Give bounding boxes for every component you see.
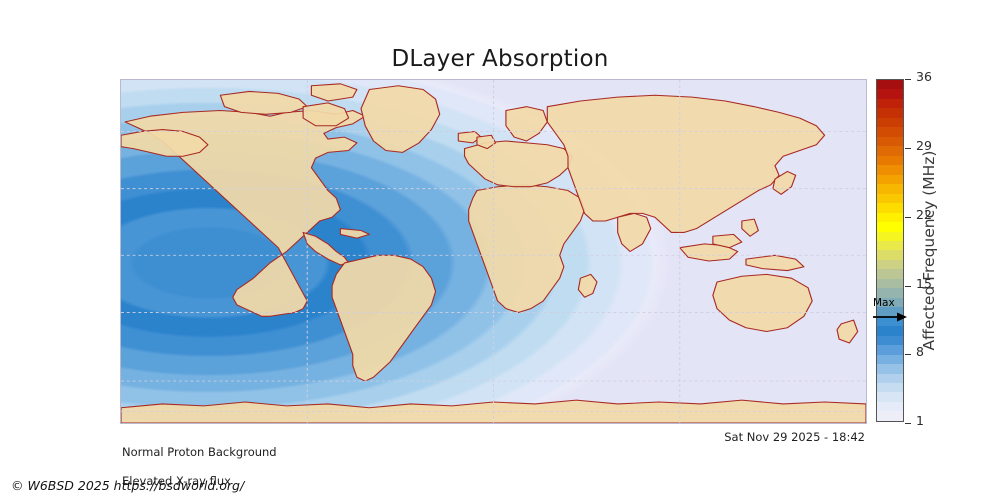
colorbar-band	[877, 89, 903, 98]
status-proton-background: Normal Proton Background	[122, 445, 277, 460]
colorbar-band	[877, 336, 903, 345]
colorbar-band	[877, 383, 903, 392]
colorbar-band	[877, 213, 903, 222]
colorbar-tick-mark	[905, 79, 911, 80]
timestamp: Sat Nov 29 2025 - 18:42	[560, 430, 865, 444]
colorbar-tick-mark	[905, 148, 911, 149]
colorbar-band	[877, 137, 903, 146]
colorbar-gradient	[876, 79, 904, 422]
colorbar-band	[877, 80, 903, 89]
colorbar-band	[877, 411, 903, 420]
page-title: DLayer Absorption	[0, 46, 1000, 72]
colorbar-tick-mark	[905, 217, 911, 218]
colorbar-band	[877, 232, 903, 241]
colorbar-band	[877, 345, 903, 354]
world-map-panel[interactable]	[120, 79, 867, 424]
colorbar: 3629221581	[876, 79, 904, 422]
colorbar-band	[877, 127, 903, 136]
colorbar-band	[877, 326, 903, 335]
colorbar-band	[877, 307, 903, 316]
colorbar-band	[877, 402, 903, 411]
colorbar-band	[877, 317, 903, 326]
colorbar-band	[877, 156, 903, 165]
colorbar-band	[877, 222, 903, 231]
colorbar-band	[877, 269, 903, 278]
dlayer-absorption-figure: DLayer Absorption	[0, 0, 1000, 500]
colorbar-band	[877, 108, 903, 117]
colorbar-band	[877, 260, 903, 269]
colorbar-tick-mark	[905, 286, 911, 287]
colorbar-tick-mark	[905, 423, 911, 424]
colorbar-axis-label: Affected Frequency (MHz)	[915, 79, 943, 422]
colorbar-band	[877, 146, 903, 155]
colorbar-band	[877, 392, 903, 401]
colorbar-band	[877, 118, 903, 127]
colorbar-band	[877, 241, 903, 250]
colorbar-band	[877, 99, 903, 108]
colorbar-band	[877, 184, 903, 193]
colorbar-tick-mark	[905, 354, 911, 355]
world-map-svg	[121, 80, 866, 423]
colorbar-band	[877, 298, 903, 307]
colorbar-band	[877, 288, 903, 297]
copyright-notice: © W6BSD 2025 https://bsdworld.org/	[11, 478, 244, 493]
colorbar-band	[877, 279, 903, 288]
colorbar-band	[877, 355, 903, 364]
colorbar-band	[877, 364, 903, 373]
colorbar-band	[877, 175, 903, 184]
colorbar-band	[877, 374, 903, 383]
colorbar-band	[877, 203, 903, 212]
colorbar-band	[877, 194, 903, 203]
colorbar-band	[877, 250, 903, 259]
colorbar-band	[877, 165, 903, 174]
